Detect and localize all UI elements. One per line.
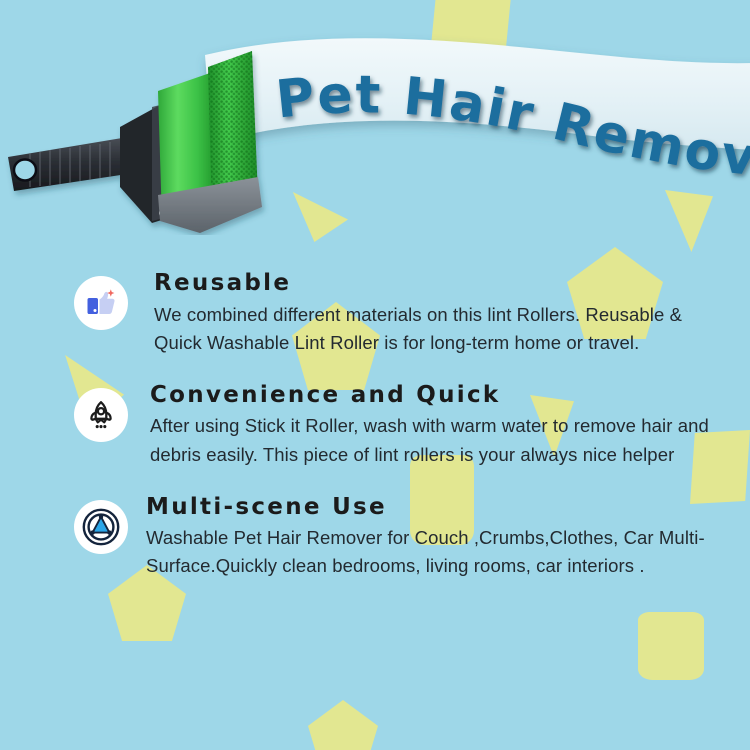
hang-hole [14,160,36,181]
lint-roller-product-image [0,45,300,235]
thumbs-up-icon [74,276,128,330]
confetti-shape [638,612,704,680]
product-infographic-poster: Pet Hair Remover [0,0,750,750]
rocket-icon [74,388,128,442]
feature-title: Reusable [154,270,714,298]
feature-title: Multi-scene Use [146,494,706,522]
feature-title: Convenience and Quick [150,382,710,410]
feature-item-convenience: Convenience and Quick After using Stick … [0,374,750,469]
feature-description: We combined different materials on this … [154,301,714,357]
feature-item-reusable: Reusable We combined different materials… [0,262,750,357]
feature-description: After using Stick it Roller, wash with w… [150,412,710,468]
confetti-shape [308,700,378,750]
feature-description: Washable Pet Hair Remover for Couch ,Cru… [146,524,706,580]
feature-list: Reusable We combined different materials… [0,262,750,597]
target-triangle-icon [74,500,128,554]
feature-item-multi-scene: Multi-scene Use Washable Pet Hair Remove… [0,486,750,581]
product-illustration [0,45,300,235]
